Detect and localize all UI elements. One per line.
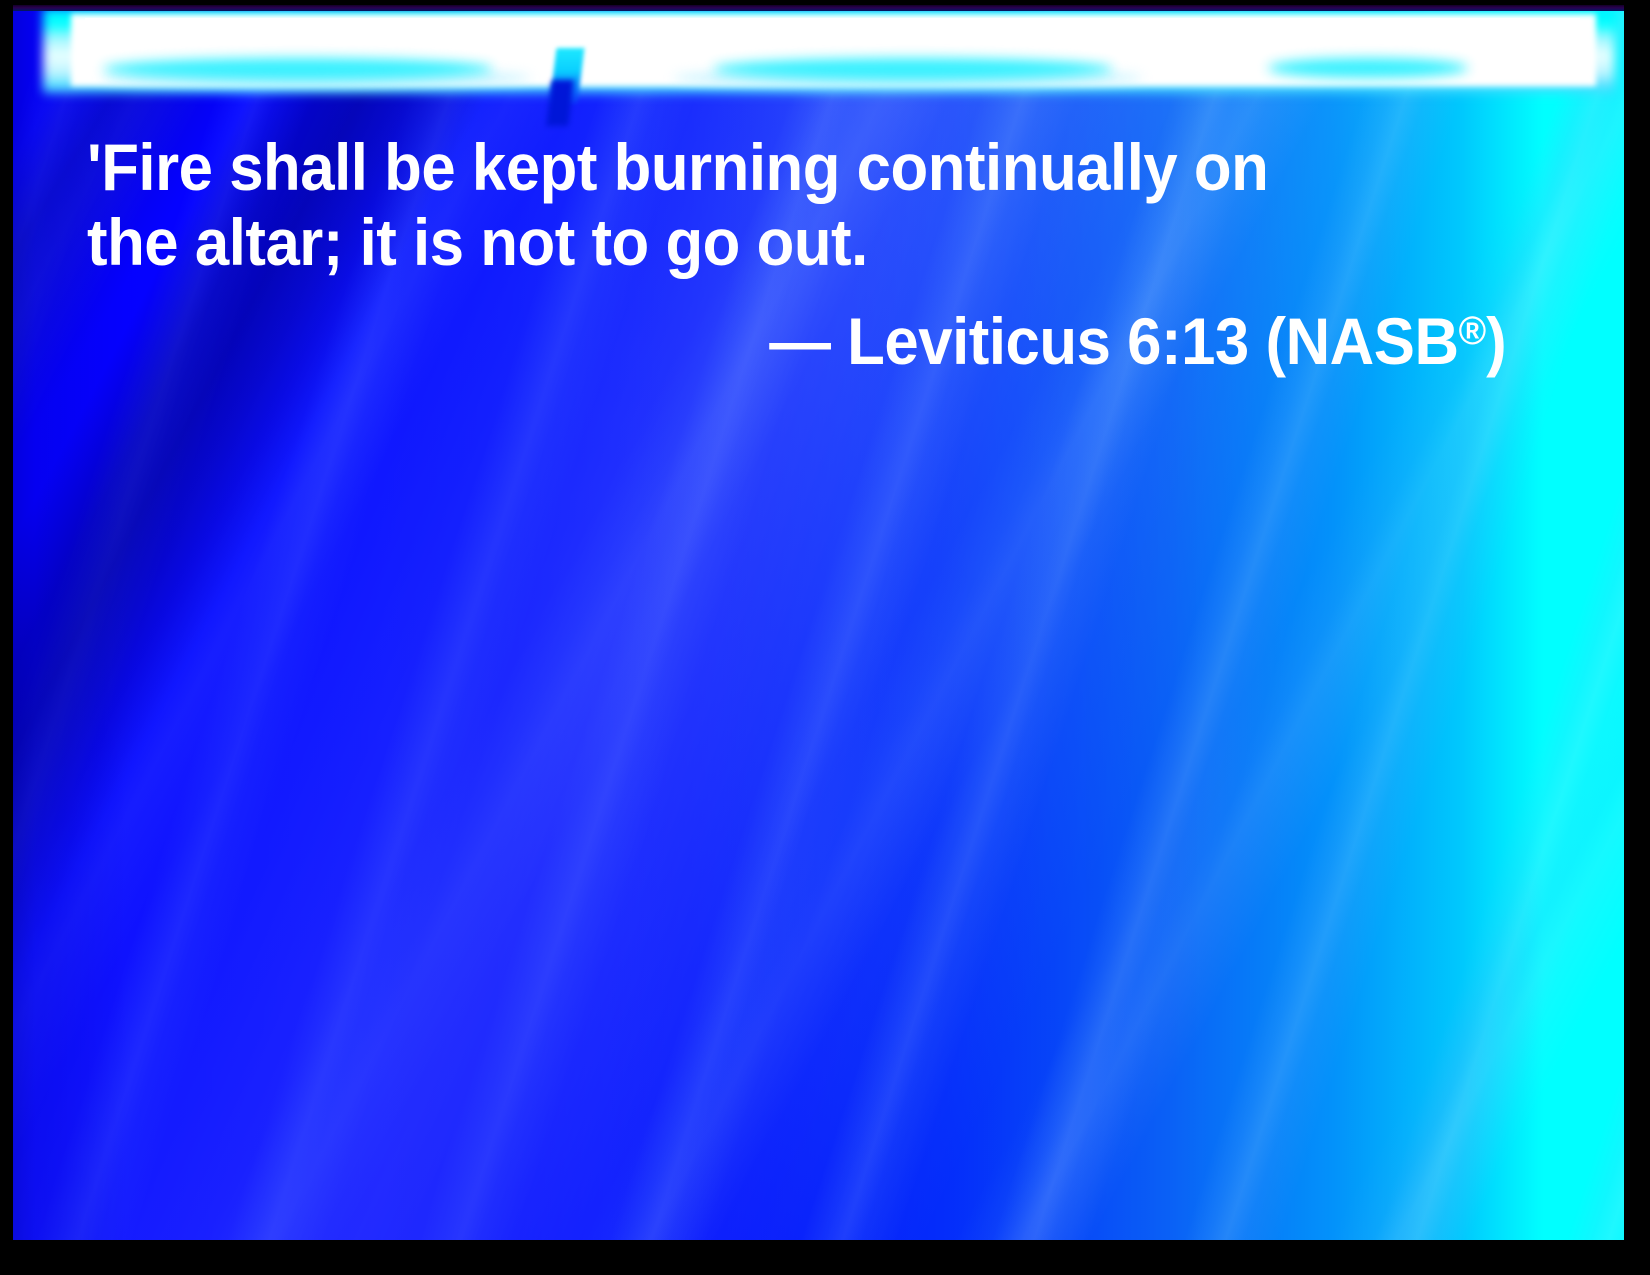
- attribution-chapter-verse: 6:13: [1127, 304, 1249, 378]
- attribution-translation-close: ): [1486, 304, 1506, 378]
- matte-edge-top-tint: [0, 5, 1650, 11]
- matte-edge-left: [0, 0, 13, 1275]
- attribution-book: Leviticus: [847, 304, 1110, 378]
- header-wisp-middle: [713, 58, 1113, 80]
- verse-attribution: — Leviticus 6:13 (NASB®): [769, 298, 1506, 374]
- header-glow-bar: [13, 8, 1624, 104]
- attribution-translation-open: (NASB: [1265, 304, 1458, 378]
- scripture-slide: 'Fire shall be kept burning continually …: [0, 0, 1650, 1275]
- matte-edge-right: [1624, 0, 1650, 1275]
- verse-line-1: 'Fire shall be kept burning continually …: [87, 134, 1268, 200]
- header-wisp-right: [1268, 58, 1468, 78]
- slide-artwork: 'Fire shall be kept burning continually …: [13, 8, 1624, 1240]
- matte-edge-bottom: [0, 1240, 1650, 1275]
- attribution-dash: —: [769, 304, 830, 378]
- header-wisp-left: [103, 58, 493, 80]
- registered-trademark-icon: ®: [1458, 309, 1486, 353]
- verse-line-2: the altar; it is not to go out.: [87, 209, 868, 275]
